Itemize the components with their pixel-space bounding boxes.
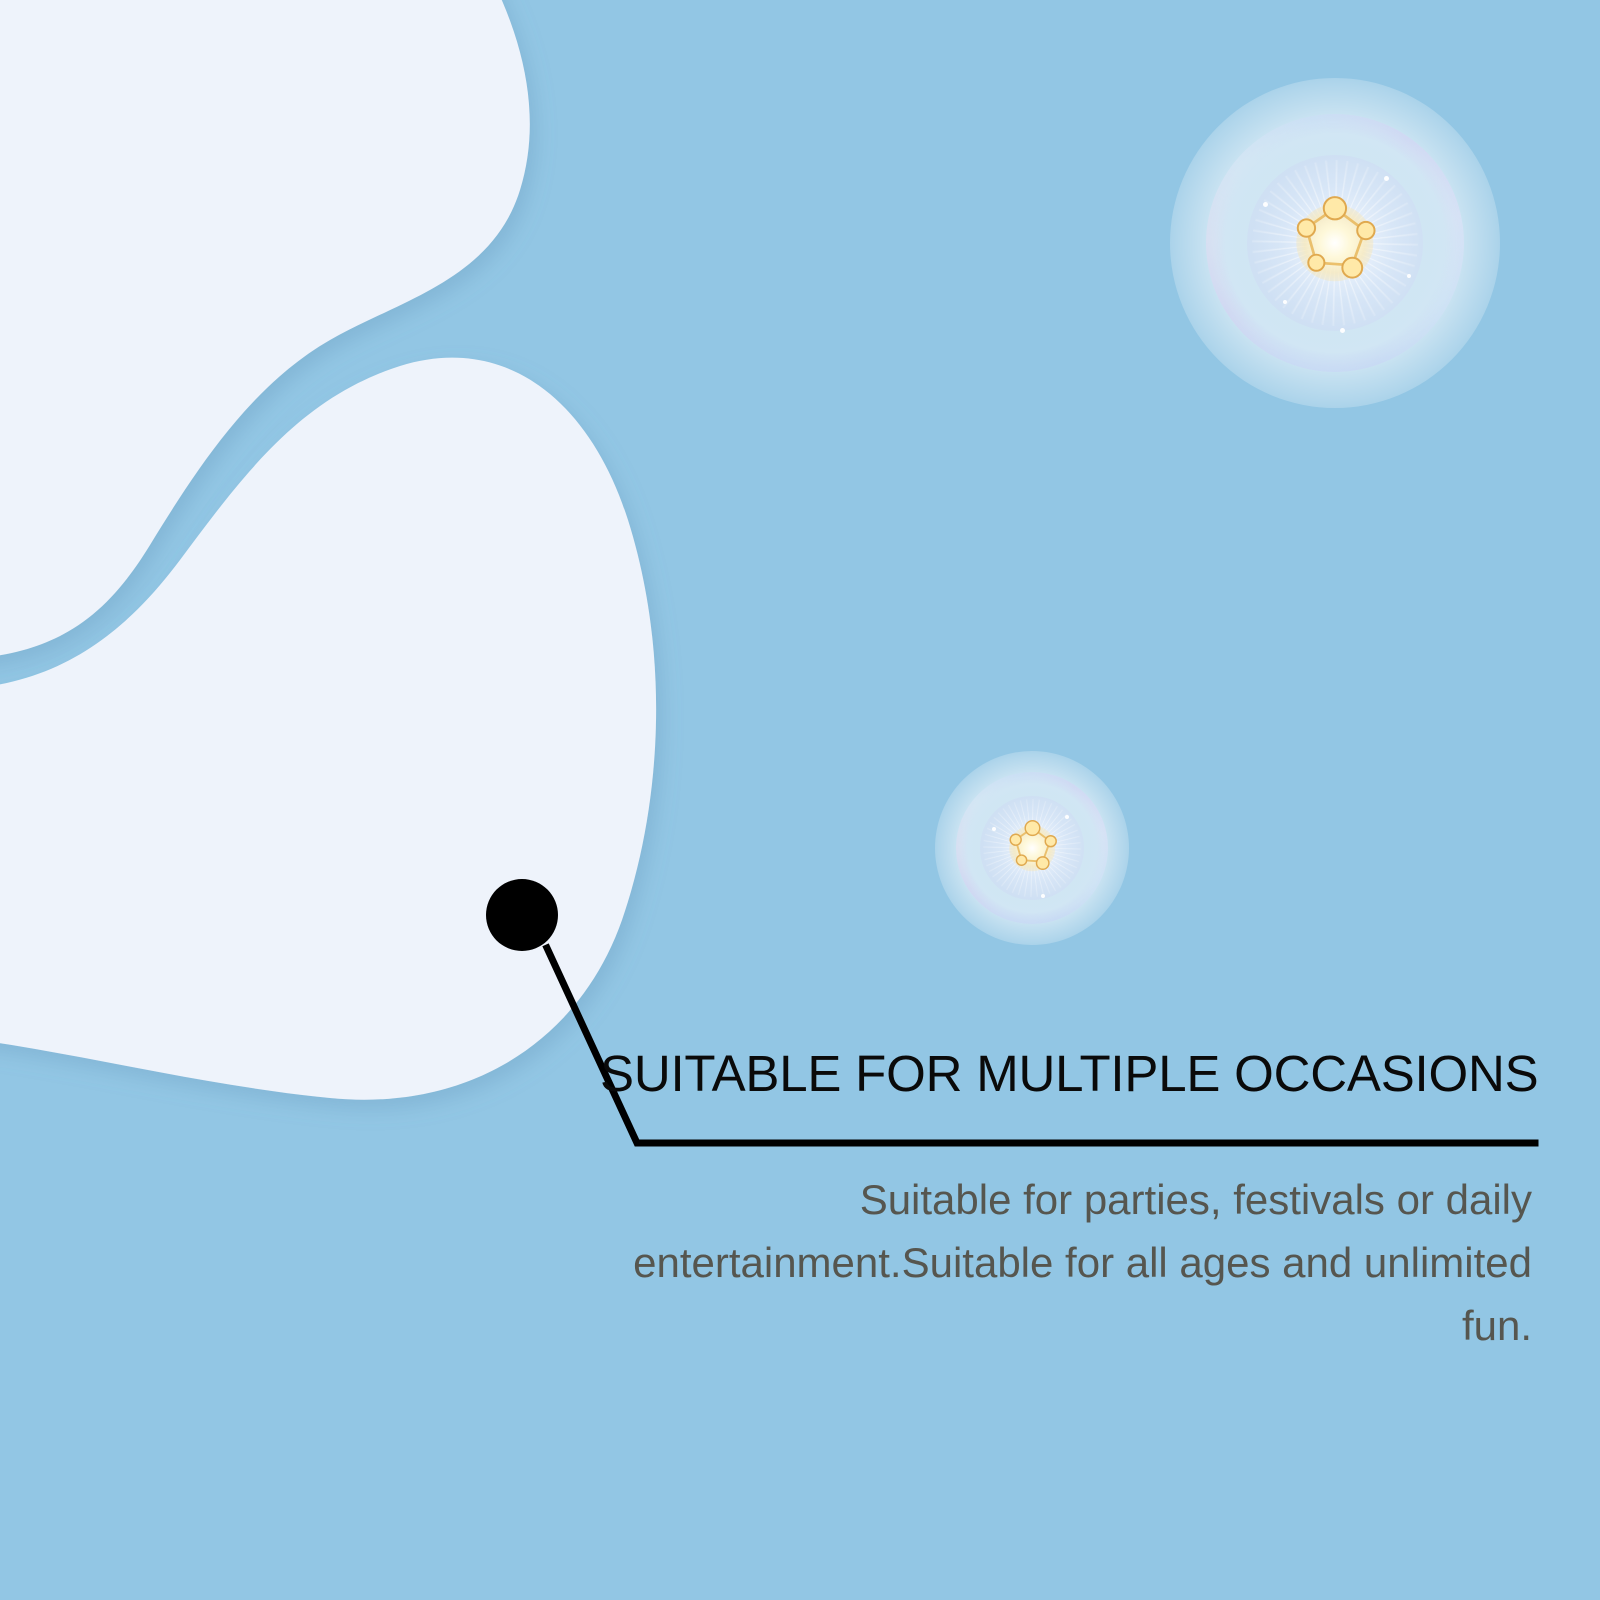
product-feature-slide: SUITABLE FOR MULTIPLE OCCASIONS Suitable… <box>0 0 1600 1600</box>
feature-headline: SUITABLE FOR MULTIPLE OCCASIONS <box>600 1046 1536 1102</box>
background-blob-layer <box>0 0 1600 1600</box>
callout-anchor-dot[interactable] <box>486 879 558 951</box>
feature-description: Suitable for parties, festivals or daily… <box>610 1168 1532 1357</box>
